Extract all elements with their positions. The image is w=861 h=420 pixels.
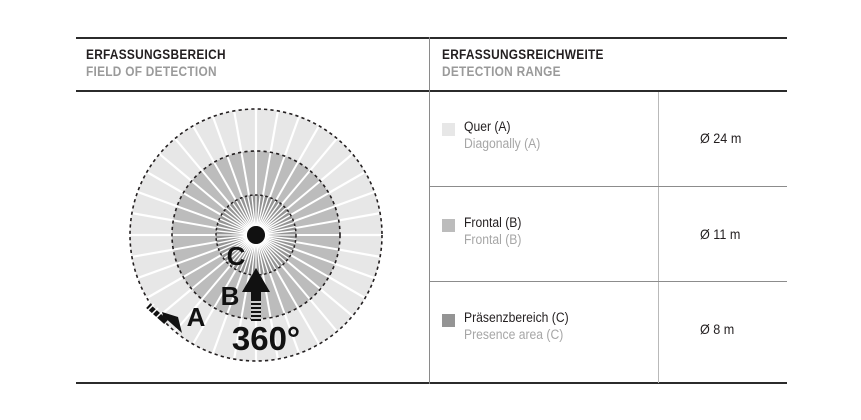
column-divider-main [429,37,430,384]
legend-swatch-a [442,123,455,136]
legend-label-en: Presence area (C) [464,326,569,343]
legend-label-de: Präsenzbereich (C) [464,309,569,326]
panel-header-right: ERFASSUNGSREICHWEITE DETECTION RANGE [442,46,626,80]
table-header-rule [76,90,787,92]
diagram-page: ERFASSUNGSBEREICH FIELD OF DETECTION ERF… [0,0,861,420]
legend-value-b: Ø 11 m [700,226,740,242]
legend-text: Frontal (B) Frontal (B) [464,214,528,248]
sensor-center-dot [247,226,265,244]
legend-value-c: Ø 8 m [700,321,734,337]
detection-field-diagram: A B C 360° [120,100,392,372]
panel-title-en: FIELD OF DETECTION [86,63,226,80]
column-divider-value [658,92,659,383]
zone-label-c: C [227,241,246,271]
panel-title-de: ERFASSUNGSREICHWEITE [442,46,604,63]
legend-swatch-b [442,219,455,232]
legend-label-en: Frontal (B) [464,231,521,248]
zone-label-b: B [221,281,240,311]
zone-label-a: A [187,302,206,332]
panel-title-en: DETECTION RANGE [442,63,604,80]
legend-row-separator [430,281,787,282]
table-bottom-rule [76,382,787,384]
panel-title-de: ERFASSUNGSBEREICH [86,46,226,63]
legend-value-a: Ø 24 m [700,130,741,146]
legend-text: Präsenzbereich (C) Presence area (C) [464,309,580,343]
table-top-rule [76,37,787,39]
legend-swatch-c [442,314,455,327]
angle-coverage-label: 360° [232,320,300,357]
panel-header-left: ERFASSUNGSBEREICH FIELD OF DETECTION [86,46,245,80]
legend-label-de: Frontal (B) [464,214,521,231]
legend-label-en: Diagonally (A) [464,135,540,152]
legend-row-separator [430,186,787,187]
legend-label-de: Quer (A) [464,118,540,135]
legend-text: Quer (A) Diagonally (A) [464,118,549,152]
